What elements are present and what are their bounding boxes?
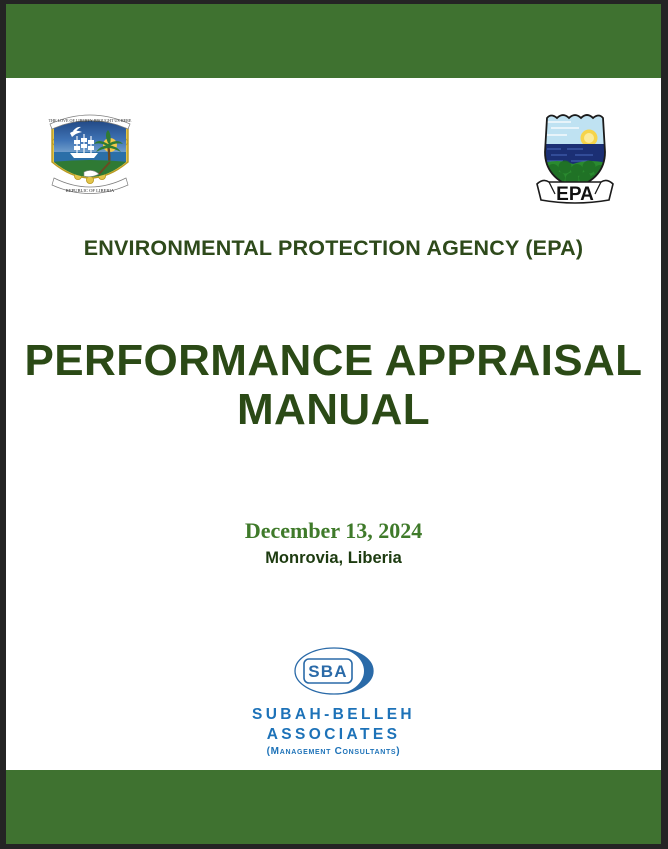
sba-logo-mark: SBA	[282, 643, 386, 699]
epa-shield-logo: EPA	[527, 108, 623, 208]
cover-content-area: THE LOVE OF LIBERTY BROUGHT US HERE REPU…	[6, 78, 661, 770]
liberia-seal-top-motto: THE LOVE OF LIBERTY BROUGHT US HERE	[49, 118, 132, 123]
document-cover-page: THE LOVE OF LIBERTY BROUGHT US HERE REPU…	[0, 0, 668, 849]
bottom-green-band	[6, 770, 661, 844]
organization-name: ENVIRONMENTAL PROTECTION AGENCY (EPA)	[6, 236, 661, 261]
publication-date: December 13, 2024	[6, 518, 661, 544]
document-title: PERFORMANCE APPRAISAL MANUAL	[6, 336, 661, 435]
top-green-band	[6, 4, 661, 78]
publication-place: Monrovia, Liberia	[6, 549, 661, 568]
liberia-seal-bottom-motto: REPUBLIC OF LIBERIA	[66, 188, 115, 193]
epa-banner-text: EPA	[556, 184, 594, 205]
publisher-logo-block: SBA SUBAH-BELLEH ASSOCIATES (Management …	[6, 643, 661, 757]
document-title-line1: PERFORMANCE APPRAISAL	[25, 336, 643, 385]
publisher-name-line2: ASSOCIATES	[6, 725, 661, 745]
publisher-name-line1: SUBAH-BELLEH	[6, 705, 661, 725]
sba-mark-text: SBA	[308, 662, 348, 681]
publisher-tagline: (Management Consultants)	[6, 746, 661, 757]
document-title-line2: MANUAL	[6, 385, 661, 434]
seals-row: THE LOVE OF LIBERTY BROUGHT US HERE REPU…	[6, 94, 661, 206]
liberia-coat-of-arms-seal: THE LOVE OF LIBERTY BROUGHT US HERE REPU…	[44, 100, 136, 202]
